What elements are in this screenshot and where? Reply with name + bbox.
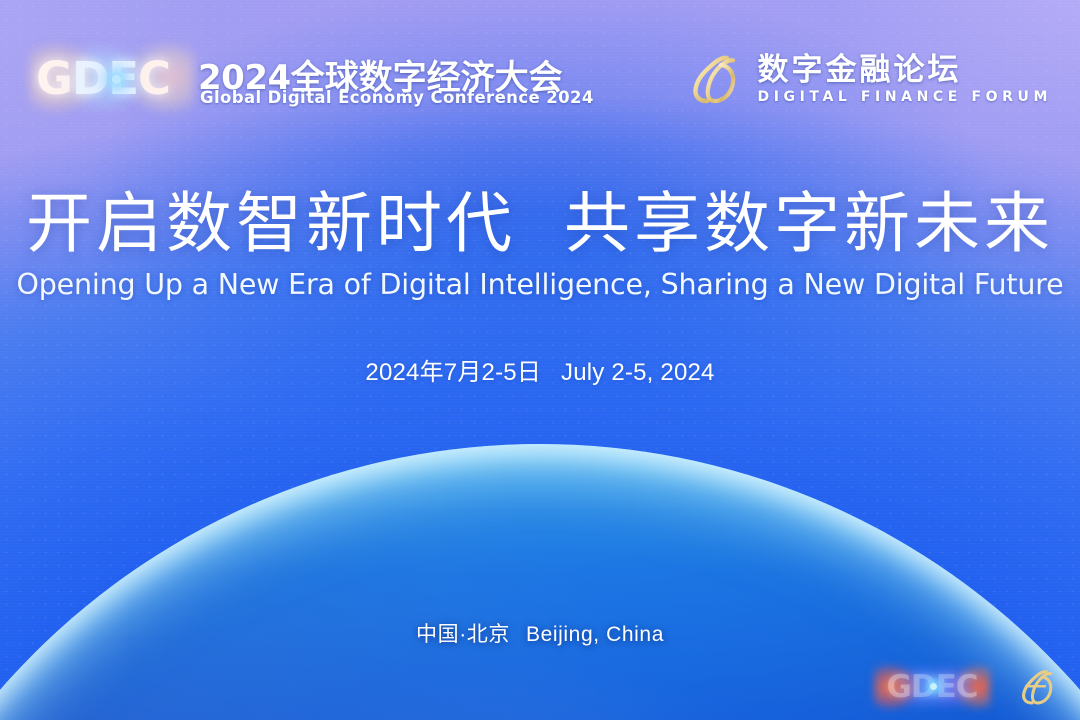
gdec-letter-g: G	[36, 52, 72, 105]
main-headline: 开启数智新时代共享数字新未来	[0, 190, 1080, 256]
main-subtitle: Opening Up a New Era of Digital Intellig…	[0, 268, 1080, 301]
conference-backdrop: GDEC 2024全球数字经济大会 Global Digital Economy…	[0, 0, 1080, 720]
dff-monogram-icon	[685, 51, 743, 107]
dff-title-cn: 数字金融论坛	[757, 53, 1052, 86]
dff-title-en: DIGITAL FINANCE FORUM	[757, 89, 1052, 105]
dff-text-block: 数字金融论坛 DIGITAL FINANCE FORUM	[757, 53, 1052, 105]
headline-part-2: 共享数字新未来	[564, 186, 1054, 260]
gdec-letter-c: C	[138, 52, 170, 105]
gdec-logo-mark: GDEC	[36, 48, 188, 108]
footer-logo-group: GDEC	[878, 666, 1058, 708]
location-cn: 中国·北京	[416, 623, 510, 646]
location-en: Beijing, China	[526, 623, 664, 646]
footer-gdec-dot-icon	[930, 683, 937, 690]
footer-gdec-logo: GDEC	[878, 667, 986, 707]
date-en: July 2-5, 2024	[561, 359, 715, 386]
event-dateline: 2024年7月2-5日July 2-5, 2024	[0, 352, 1080, 387]
headline-part-1: 开启数智新时代	[26, 186, 516, 260]
digital-finance-forum-logo: 数字金融论坛 DIGITAL FINANCE FORUM	[685, 48, 1052, 110]
gdec-letter-d: D	[72, 52, 108, 105]
footer-dff-monogram-icon	[1016, 666, 1058, 708]
date-cn: 2024年7月2-5日	[365, 359, 541, 386]
gdec-logo-dot-icon	[112, 75, 121, 84]
conference-title-en: Global Digital Economy Conference 2024	[200, 88, 594, 107]
event-location: 中国·北京Beijing, China	[0, 618, 1080, 648]
